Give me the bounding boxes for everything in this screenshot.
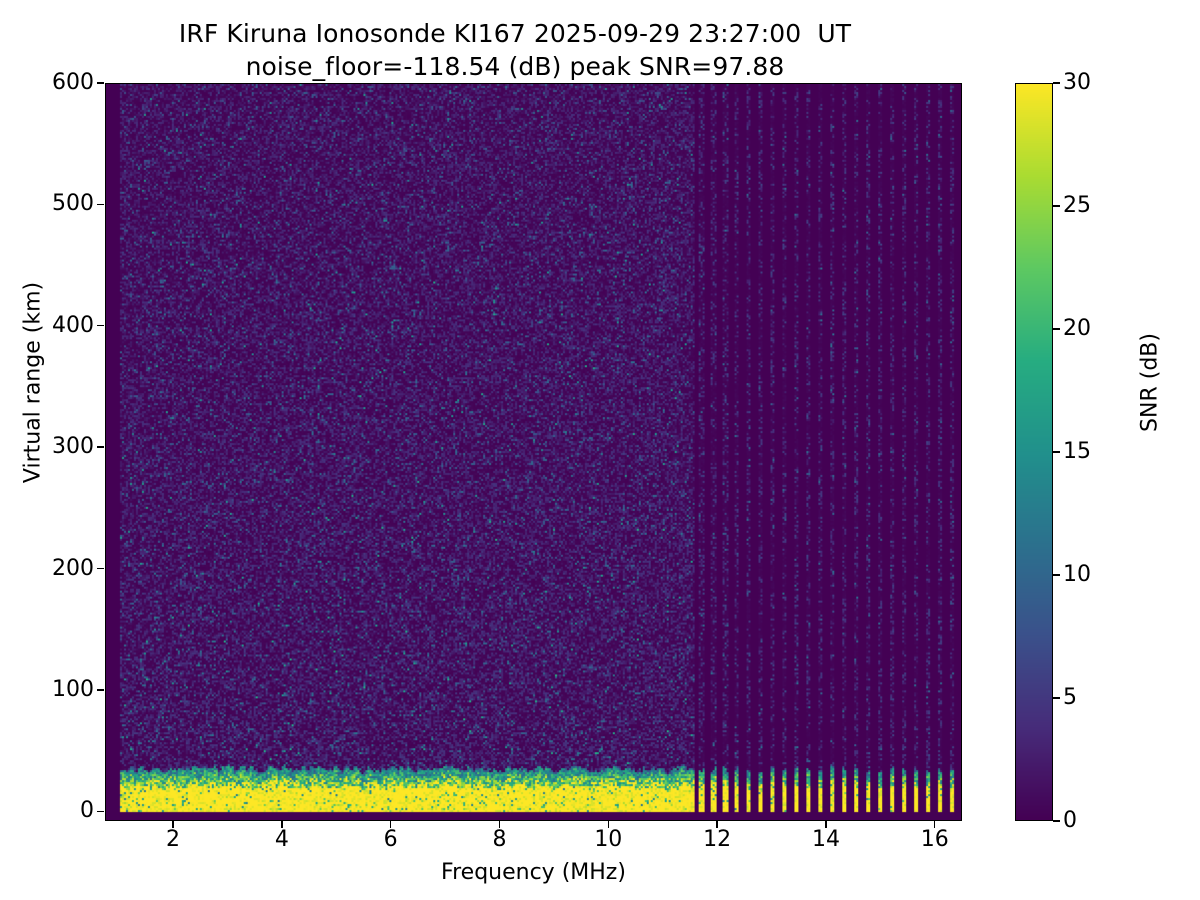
colorbar-tick-mark bbox=[1053, 697, 1060, 698]
y-tick-label: 200 bbox=[24, 558, 94, 580]
x-axis-label: Frequency (MHz) bbox=[105, 860, 962, 885]
ionogram-figure: IRF Kiruna Ionosonde KI167 2025-09-29 23… bbox=[0, 0, 1200, 900]
ionogram-heatmap bbox=[106, 84, 961, 820]
x-tick-mark bbox=[499, 821, 500, 828]
title-line-2: noise_floor=-118.54 (dB) peak SNR=97.88 bbox=[0, 51, 1030, 84]
colorbar-tick-mark bbox=[1053, 574, 1060, 575]
colorbar-tick-label: 5 bbox=[1063, 687, 1077, 709]
x-tick-mark bbox=[390, 821, 391, 828]
colorbar-tick-mark bbox=[1053, 820, 1060, 821]
x-tick-label: 6 bbox=[361, 829, 421, 851]
y-tick-mark bbox=[97, 446, 104, 447]
colorbar-tick-mark bbox=[1053, 82, 1060, 83]
y-tick-label: 0 bbox=[24, 800, 94, 822]
y-tick-mark bbox=[97, 325, 104, 326]
colorbar-tick-label: 0 bbox=[1063, 810, 1077, 832]
colorbar-label: SNR (dB) bbox=[1138, 253, 1163, 513]
x-tick-label: 2 bbox=[143, 829, 203, 851]
y-tick-mark bbox=[97, 204, 104, 205]
snr-colorbar bbox=[1015, 83, 1053, 821]
y-tick-label: 600 bbox=[24, 72, 94, 94]
colorbar-tick-mark bbox=[1053, 451, 1060, 452]
colorbar-gradient bbox=[1016, 84, 1052, 820]
x-tick-label: 8 bbox=[469, 829, 529, 851]
colorbar-tick-mark bbox=[1053, 328, 1060, 329]
y-tick-label: 500 bbox=[24, 193, 94, 215]
x-tick-label: 10 bbox=[578, 829, 638, 851]
x-tick-mark bbox=[825, 821, 826, 828]
colorbar-tick-mark bbox=[1053, 205, 1060, 206]
colorbar-tick-label: 25 bbox=[1063, 195, 1091, 217]
title-line-1: IRF Kiruna Ionosonde KI167 2025-09-29 23… bbox=[0, 18, 1030, 51]
x-tick-mark bbox=[172, 821, 173, 828]
colorbar-tick-label: 15 bbox=[1063, 441, 1091, 463]
x-tick-label: 12 bbox=[687, 829, 747, 851]
x-tick-mark bbox=[281, 821, 282, 828]
colorbar-tick-label: 30 bbox=[1063, 72, 1091, 94]
x-tick-label: 4 bbox=[252, 829, 312, 851]
y-tick-label: 100 bbox=[24, 679, 94, 701]
x-tick-mark bbox=[608, 821, 609, 828]
ionogram-axes bbox=[105, 83, 962, 821]
y-tick-mark bbox=[97, 811, 104, 812]
x-tick-mark bbox=[716, 821, 717, 828]
x-tick-label: 14 bbox=[796, 829, 856, 851]
y-tick-mark bbox=[97, 82, 104, 83]
colorbar-tick-label: 10 bbox=[1063, 564, 1091, 586]
y-tick-mark bbox=[97, 568, 104, 569]
y-axis-label: Virtual range (km) bbox=[21, 263, 46, 503]
y-tick-mark bbox=[97, 689, 104, 690]
colorbar-tick-label: 20 bbox=[1063, 318, 1091, 340]
x-tick-label: 16 bbox=[905, 829, 965, 851]
x-tick-mark bbox=[934, 821, 935, 828]
plot-title: IRF Kiruna Ionosonde KI167 2025-09-29 23… bbox=[0, 18, 1030, 83]
